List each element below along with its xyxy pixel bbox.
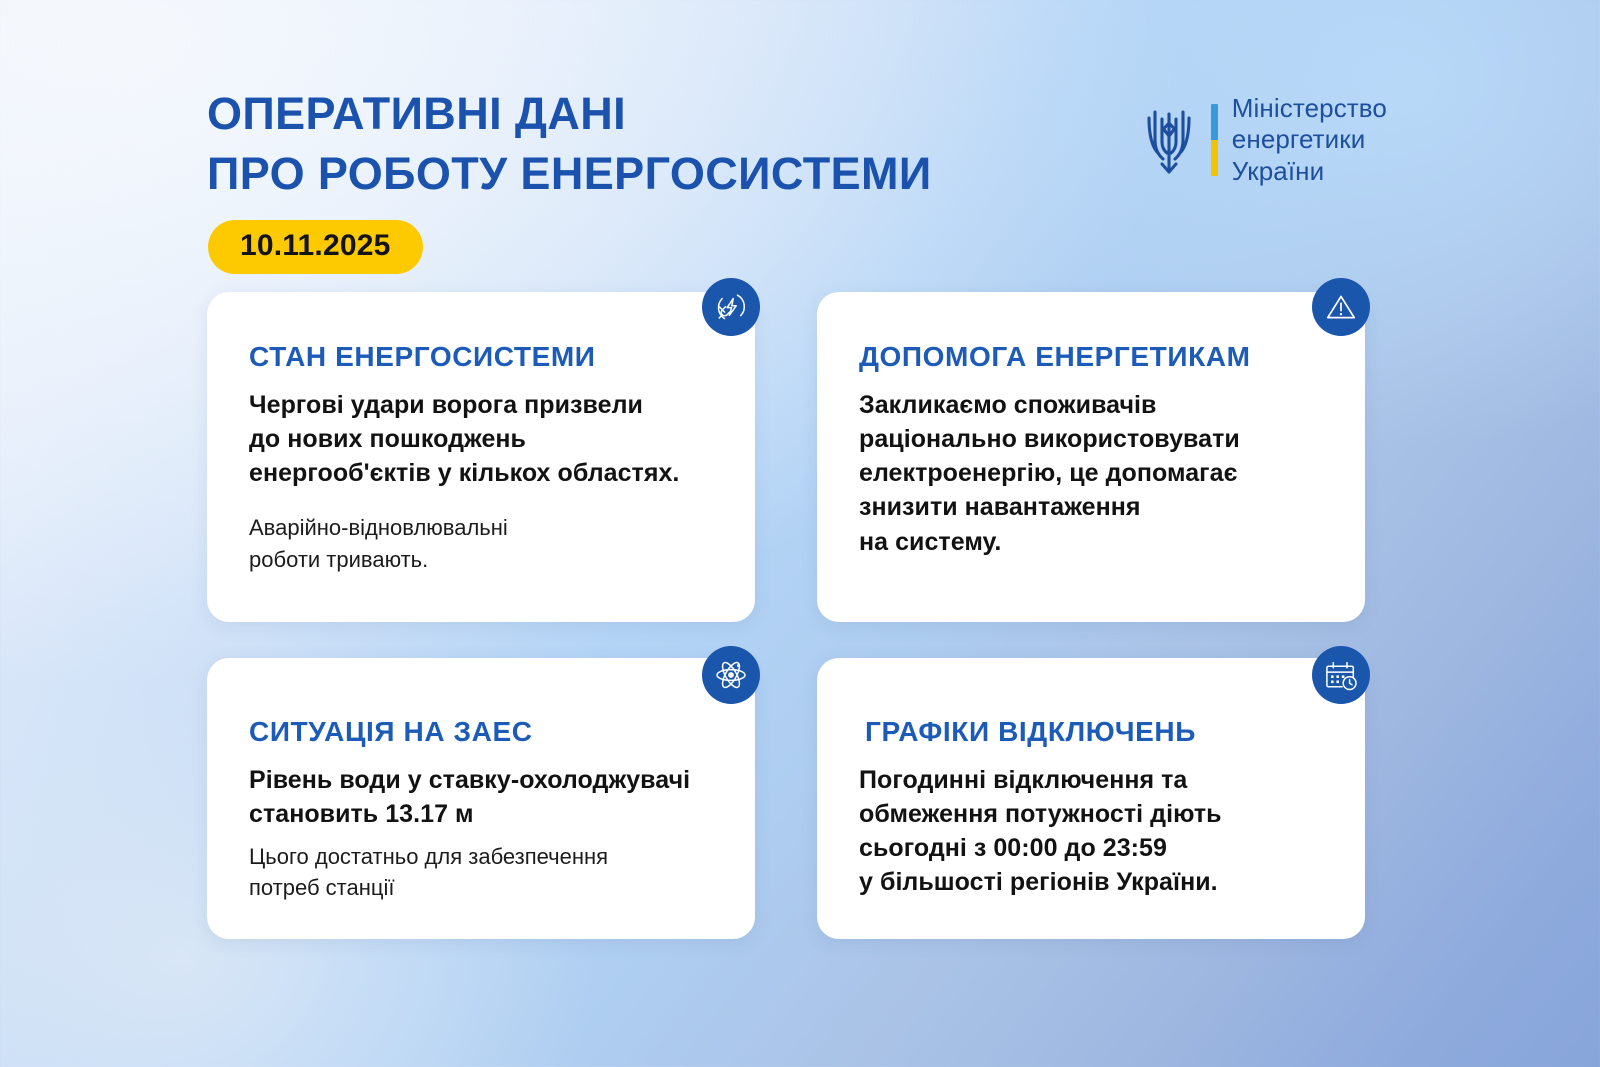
card-secondary-line: роботи тривають. bbox=[249, 544, 717, 575]
card-stan-enerhosystemy: СТАН ЕНЕРГОСИСТЕМИ Чергові удари ворога … bbox=[207, 292, 755, 622]
ministry-logo-line-1: Міністерство bbox=[1232, 93, 1387, 124]
date-badge: 10.11.2025 bbox=[208, 220, 423, 274]
card-heading: ДОПОМОГА ЕНЕРГЕТИКАМ bbox=[859, 340, 1327, 374]
page-title: ОПЕРАТИВНІ ДАНІ ПРО РОБОТУ ЕНЕРГОСИСТЕМИ bbox=[207, 84, 932, 204]
card-primary-text: Закликаємо споживачів раціонально викори… bbox=[859, 388, 1327, 559]
card-sytuatsiia-na-zaes: СИТУАЦІЯ НА ЗАЕС Рівень води у ставку-ох… bbox=[207, 658, 755, 939]
card-secondary-line: Аварійно-відновлювальні bbox=[249, 512, 717, 543]
card-primary-line: Рівень води у ставку-охолоджувачі bbox=[249, 763, 717, 797]
card-primary-line: Погодинні відключення та bbox=[859, 763, 1327, 797]
card-primary-line: Закликаємо споживачів bbox=[859, 388, 1327, 422]
card-primary-text: Рівень води у ставку-охолоджувачі станов… bbox=[249, 763, 717, 832]
card-primary-line: електроенергію, це допомагає bbox=[859, 456, 1327, 490]
card-heading: ГРАФІКИ ВІДКЛЮЧЕНЬ bbox=[859, 715, 1327, 749]
page-title-line-2: ПРО РОБОТУ ЕНЕРГОСИСТЕМИ bbox=[207, 144, 932, 204]
ministry-logo-line-3: України bbox=[1232, 156, 1387, 187]
card-secondary-text: Аварійно-відновлювальні роботи тривають. bbox=[249, 512, 717, 574]
atom-icon bbox=[702, 646, 760, 704]
card-primary-line: до нових пошкоджень bbox=[249, 422, 717, 456]
card-primary-line: енергооб'єктів у кількох областях. bbox=[249, 456, 717, 490]
card-secondary-line: потреб станції bbox=[249, 872, 717, 903]
ukraine-trident-icon bbox=[1141, 102, 1197, 178]
card-primary-line: раціонально використовувати bbox=[859, 422, 1327, 456]
card-primary-line: на систему. bbox=[859, 525, 1327, 559]
logo-flag-divider bbox=[1211, 104, 1218, 176]
card-hrafiky-vidkliuchen: ГРАФІКИ ВІДКЛЮЧЕНЬ Погодинні відключення… bbox=[817, 658, 1365, 939]
card-secondary-text: Цього достатньо для забезпечення потреб … bbox=[249, 841, 717, 903]
card-primary-line: у більшості регіонів України. bbox=[859, 865, 1327, 899]
card-primary-text: Погодинні відключення та обмеження потуж… bbox=[859, 763, 1327, 900]
card-primary-line: обмеження потужності діють bbox=[859, 797, 1327, 831]
page-title-line-1: ОПЕРАТИВНІ ДАНІ bbox=[207, 84, 932, 144]
card-heading: СТАН ЕНЕРГОСИСТЕМИ bbox=[249, 340, 717, 374]
card-primary-text: Чергові удари ворога призвели до нових п… bbox=[249, 388, 717, 491]
ministry-logo-line-2: енергетики bbox=[1232, 124, 1387, 155]
card-secondary-line: Цього достатньо для забезпечення bbox=[249, 841, 717, 872]
card-primary-line: сьогодні з 00:00 до 23:59 bbox=[859, 831, 1327, 865]
warning-triangle-icon bbox=[1312, 278, 1370, 336]
infographic-canvas: ОПЕРАТИВНІ ДАНІ ПРО РОБОТУ ЕНЕРГОСИСТЕМИ… bbox=[0, 0, 1600, 1067]
calendar-clock-icon bbox=[1312, 646, 1370, 704]
ministry-logo-text: Міністерство енергетики України bbox=[1232, 93, 1387, 187]
card-primary-line: Чергові удари ворога призвели bbox=[249, 388, 717, 422]
card-primary-line: знизити навантаження bbox=[859, 490, 1327, 524]
date-badge-label: 10.11.2025 bbox=[240, 231, 391, 261]
ministry-logo: Міністерство енергетики України bbox=[1141, 93, 1387, 187]
card-dopomoha-enerhetykam: ДОПОМОГА ЕНЕРГЕТИКАМ Закликаємо споживач… bbox=[817, 292, 1365, 622]
card-primary-line: становить 13.17 м bbox=[249, 797, 717, 831]
plug-lightning-icon bbox=[702, 278, 760, 336]
card-heading: СИТУАЦІЯ НА ЗАЕС bbox=[249, 715, 717, 749]
